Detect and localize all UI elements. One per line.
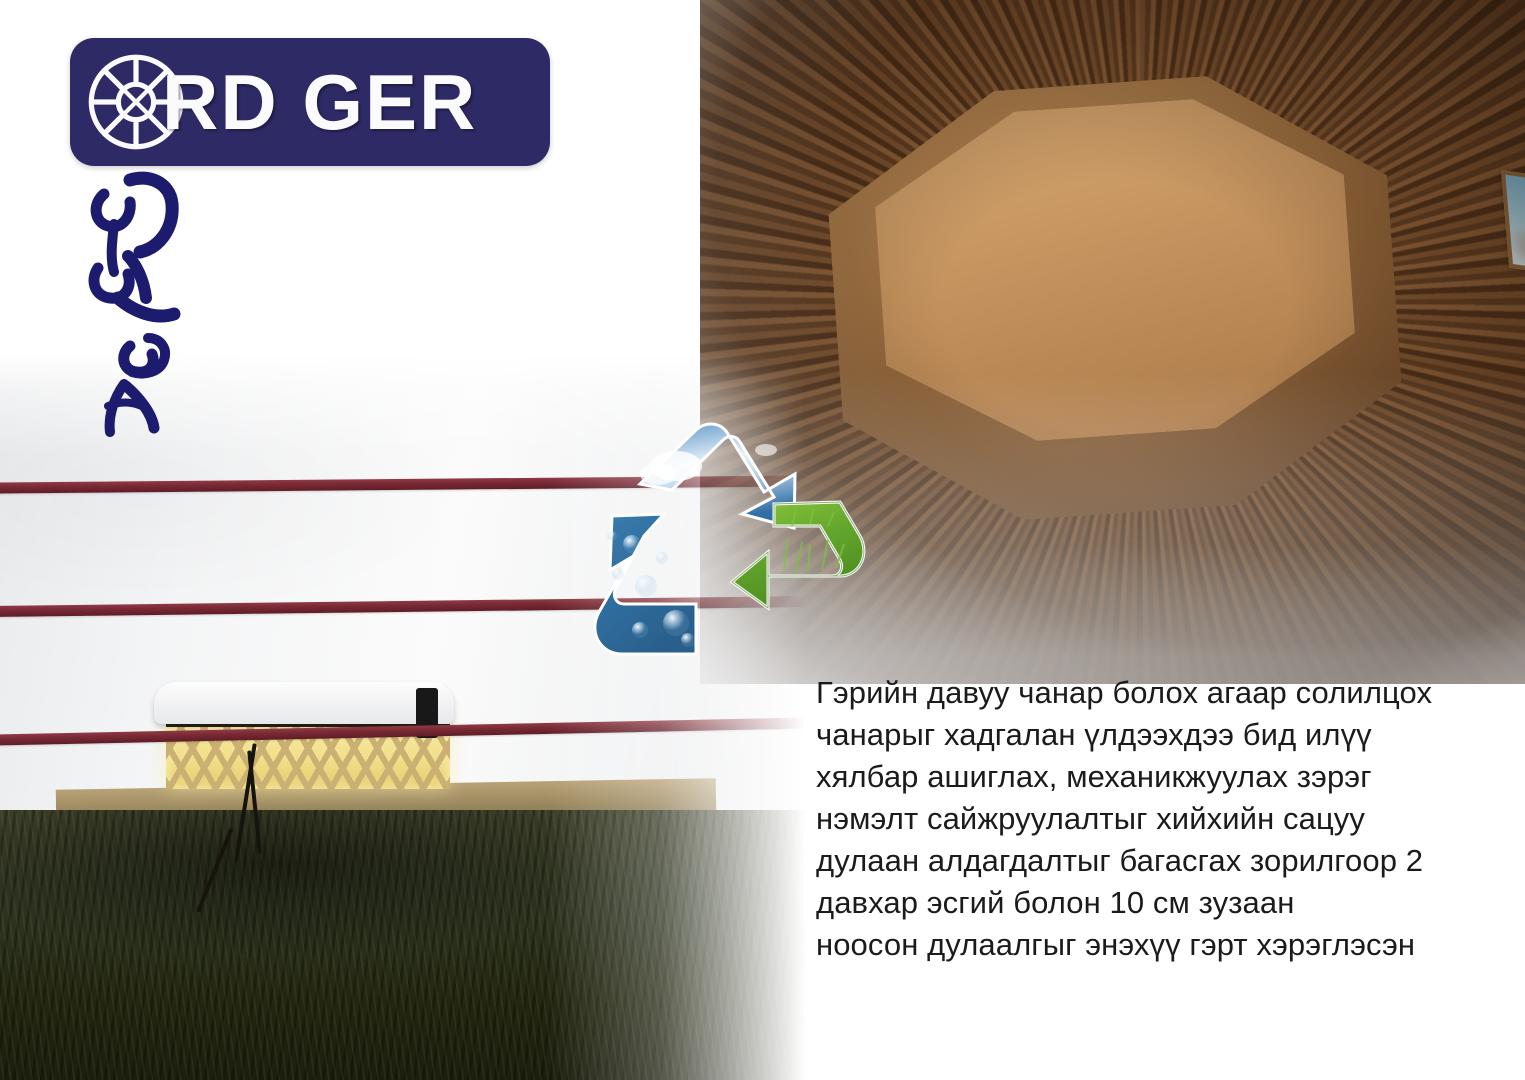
brand-wordmark: RD GER xyxy=(162,63,477,141)
grass-ground xyxy=(0,810,806,1080)
canvas-lifted-flap xyxy=(154,682,454,724)
paragraph-line: чанарыг хадгалан үлдээхдээ бид илүү xyxy=(816,714,1516,756)
paragraph-line: дулаан алдагдалтыг багасгах зорилгоор 2 xyxy=(816,840,1516,882)
recycle-sky-arrow xyxy=(640,424,795,528)
recycle-symbol-icon xyxy=(588,418,866,680)
paragraph-line: хялбар ашиглах, механикжуулах зэрэг xyxy=(816,756,1516,798)
paragraph-line: Гэрийн давуу чанар болох агаар солилцох xyxy=(816,672,1516,714)
mongol-bichig-calligraphy xyxy=(74,160,204,460)
paragraph-line: нэмэлт сайжруулалтыг хийхийн сацуу xyxy=(816,798,1516,840)
paragraph-line: ноосон дулаалгыг энэхүү гэрт хэрэглэсэн xyxy=(816,924,1516,966)
description-paragraph: Гэрийн давуу чанар болох агаар солилцох … xyxy=(816,672,1516,966)
slide-canvas: RD GER xyxy=(0,0,1525,1080)
brand-logo-badge[interactable]: RD GER xyxy=(70,38,550,166)
paragraph-line: давхар эсгий болон 10 см зузаан xyxy=(816,882,1516,924)
recycle-water-arrow xyxy=(595,514,696,654)
